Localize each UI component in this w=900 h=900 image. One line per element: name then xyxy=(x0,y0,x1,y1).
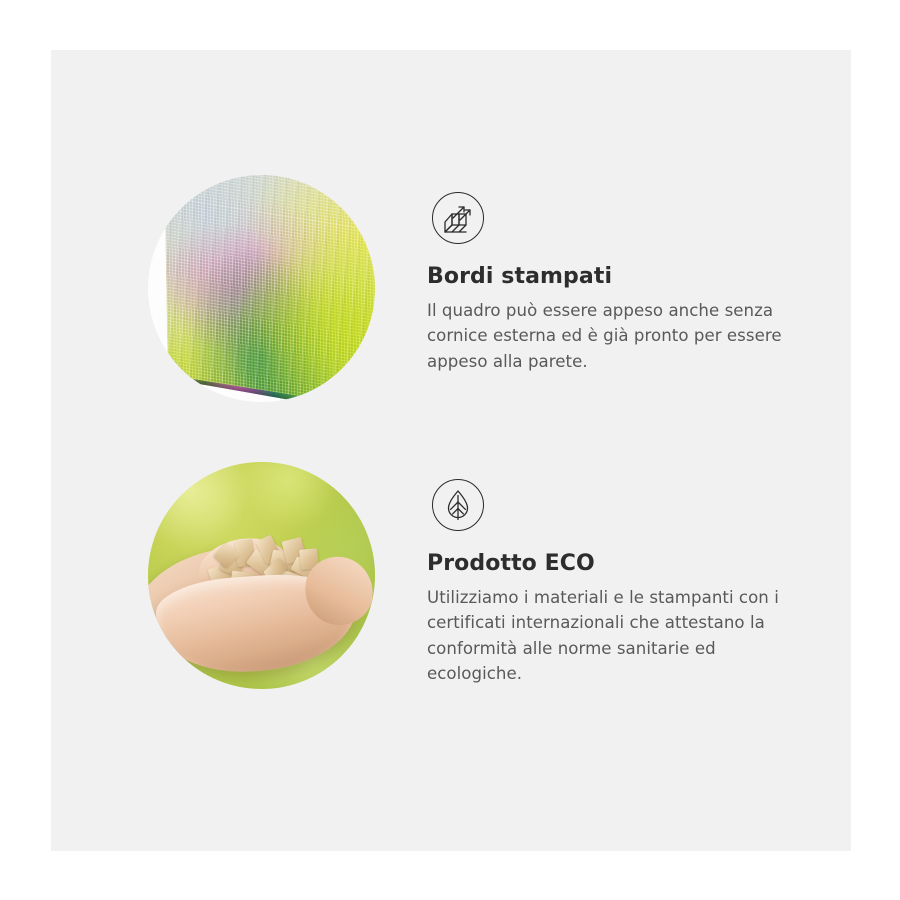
canvas-printed-face xyxy=(164,175,375,402)
feature-text-eco-product: Prodotto ECO Utilizziamo i materiali e l… xyxy=(427,552,812,686)
feature-title: Bordi stampati xyxy=(427,265,812,289)
canvas-edges-icon xyxy=(432,192,484,244)
content-panel: Bordi stampati Il quadro può essere appe… xyxy=(51,50,851,851)
feature-description: Utilizziamo i materiali e le stampanti c… xyxy=(427,585,812,686)
leaf-icon xyxy=(432,479,484,531)
wood-chips-in-hands-photo xyxy=(148,462,375,689)
canvas-weave-texture xyxy=(164,175,375,402)
feature-title: Prodotto ECO xyxy=(427,552,812,576)
feature-description: Il quadro può essere appeso anche senza … xyxy=(427,298,812,374)
feature-text-printed-edges: Bordi stampati Il quadro può essere appe… xyxy=(427,265,812,374)
canvas-corner-photo xyxy=(148,175,375,402)
product-feature-page: Bordi stampati Il quadro può essere appe… xyxy=(0,0,900,900)
